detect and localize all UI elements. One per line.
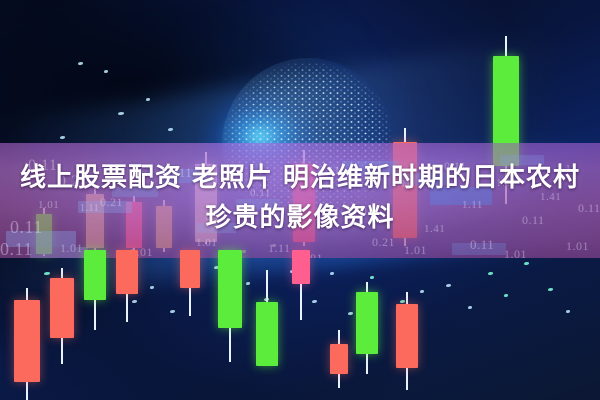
candle-body xyxy=(292,250,310,284)
candle-body xyxy=(180,250,200,288)
price-number: 1.01 xyxy=(196,237,217,249)
candle-green-b6 xyxy=(218,250,242,362)
candle-red-b5 xyxy=(180,250,200,316)
candle-body xyxy=(84,250,106,300)
headline-line-2: 珍贵的影像资料 xyxy=(0,198,600,238)
price-number: 0.11 xyxy=(470,237,494,253)
banner-image: 0.110.110.111.011.010.210.211.111.010.11… xyxy=(0,0,600,400)
candle-body xyxy=(50,278,74,338)
candle-red-b11 xyxy=(396,292,418,390)
headline-line-1: 线上股票配资 老照片 明治维新时期的日本农村 xyxy=(20,163,580,193)
candle-green-b3 xyxy=(84,250,106,330)
price-number: 0.11 xyxy=(0,239,33,258)
candle-body xyxy=(116,250,138,294)
candle-red-b2 xyxy=(50,268,74,364)
candle-body xyxy=(14,300,40,382)
price-number: 1.01 xyxy=(60,241,83,256)
candle-body xyxy=(256,302,278,366)
price-number: 1.01 xyxy=(504,247,527,258)
candle-body xyxy=(218,250,242,328)
price-number: 1.01 xyxy=(404,243,427,258)
candle-red-b9 xyxy=(330,330,348,388)
candle-green-b10 xyxy=(356,282,378,374)
candle-body xyxy=(356,292,378,354)
candle-red-b4 xyxy=(116,250,138,322)
price-number: 1.11 xyxy=(268,241,291,256)
headline-text: 线上股票配资 老照片 明治维新时期的日本农村 珍贵的影像资料 xyxy=(0,158,600,238)
candle-body xyxy=(396,304,418,368)
price-number: 1.01 xyxy=(566,239,589,254)
candle-green-b7 xyxy=(256,270,278,366)
candle-pink-b8 xyxy=(292,250,310,320)
candle-body xyxy=(330,344,348,374)
candle-red-b1 xyxy=(14,288,40,400)
